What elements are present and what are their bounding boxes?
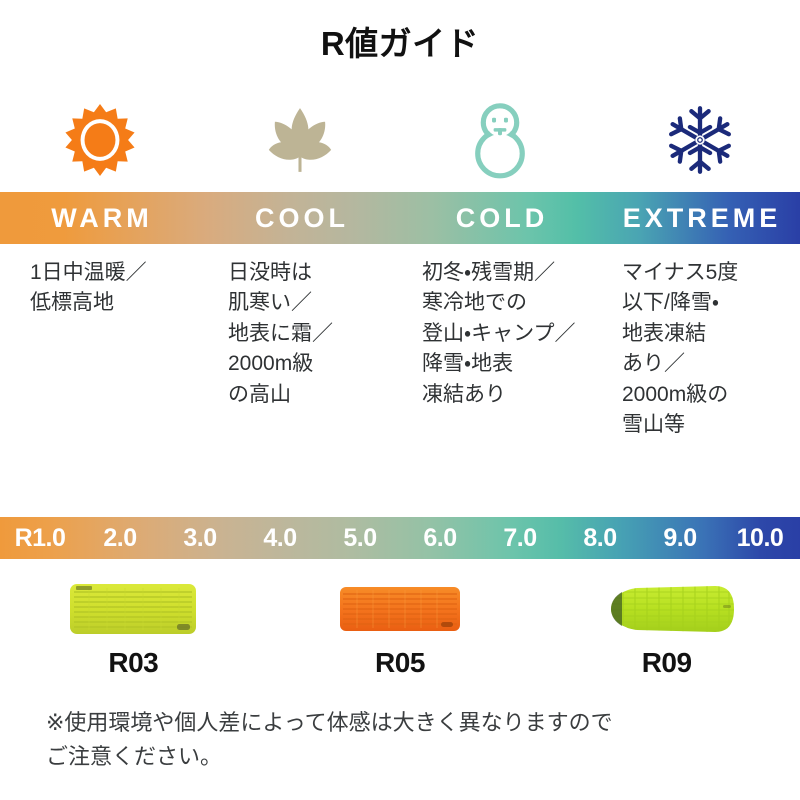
product-label-r05: R05 [375,649,425,677]
category-description-row: 1日中温暖／ 低標高地 日没時は 肌寒い／ 地表に霜／ 2000m級 の高山 初… [0,258,800,441]
category-label-cool: COOL [200,205,400,232]
category-label-warm: WARM [0,205,200,232]
category-description-cool: 日没時は 肌寒い／ 地表に霜／ 2000m級 の高山 [200,258,400,441]
scale-tick-8: 8.0 [560,526,640,551]
product-label-r03: R03 [108,649,158,677]
icon-cell-warm [0,92,200,188]
scale-tick-2: 2.0 [80,526,160,551]
product-image-r09 [597,575,737,643]
scale-tick-3: 3.0 [160,526,240,551]
snowflake-icon [664,104,736,176]
product-cell-r05: R05 [267,575,534,690]
category-gradient-band: WARM COOL COLD EXTREME [0,192,800,244]
scale-tick-6: 6.0 [400,526,480,551]
icon-cell-extreme [600,92,800,188]
footnote-text: ※使用環境や個人差によって体感は大きく異なりますので ご注意ください。 [46,706,776,774]
category-label-extreme: EXTREME [600,205,800,232]
scale-tick-1: R1.0 [0,526,80,551]
leaf-icon [262,102,338,178]
scale-tick-10: 10.0 [720,526,800,551]
scale-tick-7: 7.0 [480,526,560,551]
category-description-extreme: マイナス5度 以下/降雪・ 地表凍結 あり／ 2000m級の 雪山等 [600,258,800,441]
category-description-cold: 初冬・残雪期／ 寒冷地での 登山・キャンプ／ 降雪・地表 凍結あり [400,258,600,441]
sun-icon [64,104,136,176]
scale-tick-4: 4.0 [240,526,320,551]
page-title: R値ガイド [0,24,800,64]
r-value-guide-page: R値ガイド [0,0,800,800]
product-image-r03 [69,575,197,643]
product-image-r05 [339,575,461,643]
scale-tick-9: 9.0 [640,526,720,551]
snowman-icon [465,100,535,180]
icon-cell-cold [400,92,600,188]
category-description-warm: 1日中温暖／ 低標高地 [0,258,200,441]
category-icon-row [0,92,800,188]
product-row: R03 [0,575,800,690]
scale-tick-5: 5.0 [320,526,400,551]
product-cell-r09: R09 [533,575,800,690]
product-cell-r03: R03 [0,575,267,690]
category-label-cold: COLD [400,205,600,232]
product-label-r09: R09 [642,649,692,677]
r-value-scale-band: R1.0 2.0 3.0 4.0 5.0 6.0 7.0 8.0 9.0 10.… [0,517,800,559]
icon-cell-cool [200,92,400,188]
